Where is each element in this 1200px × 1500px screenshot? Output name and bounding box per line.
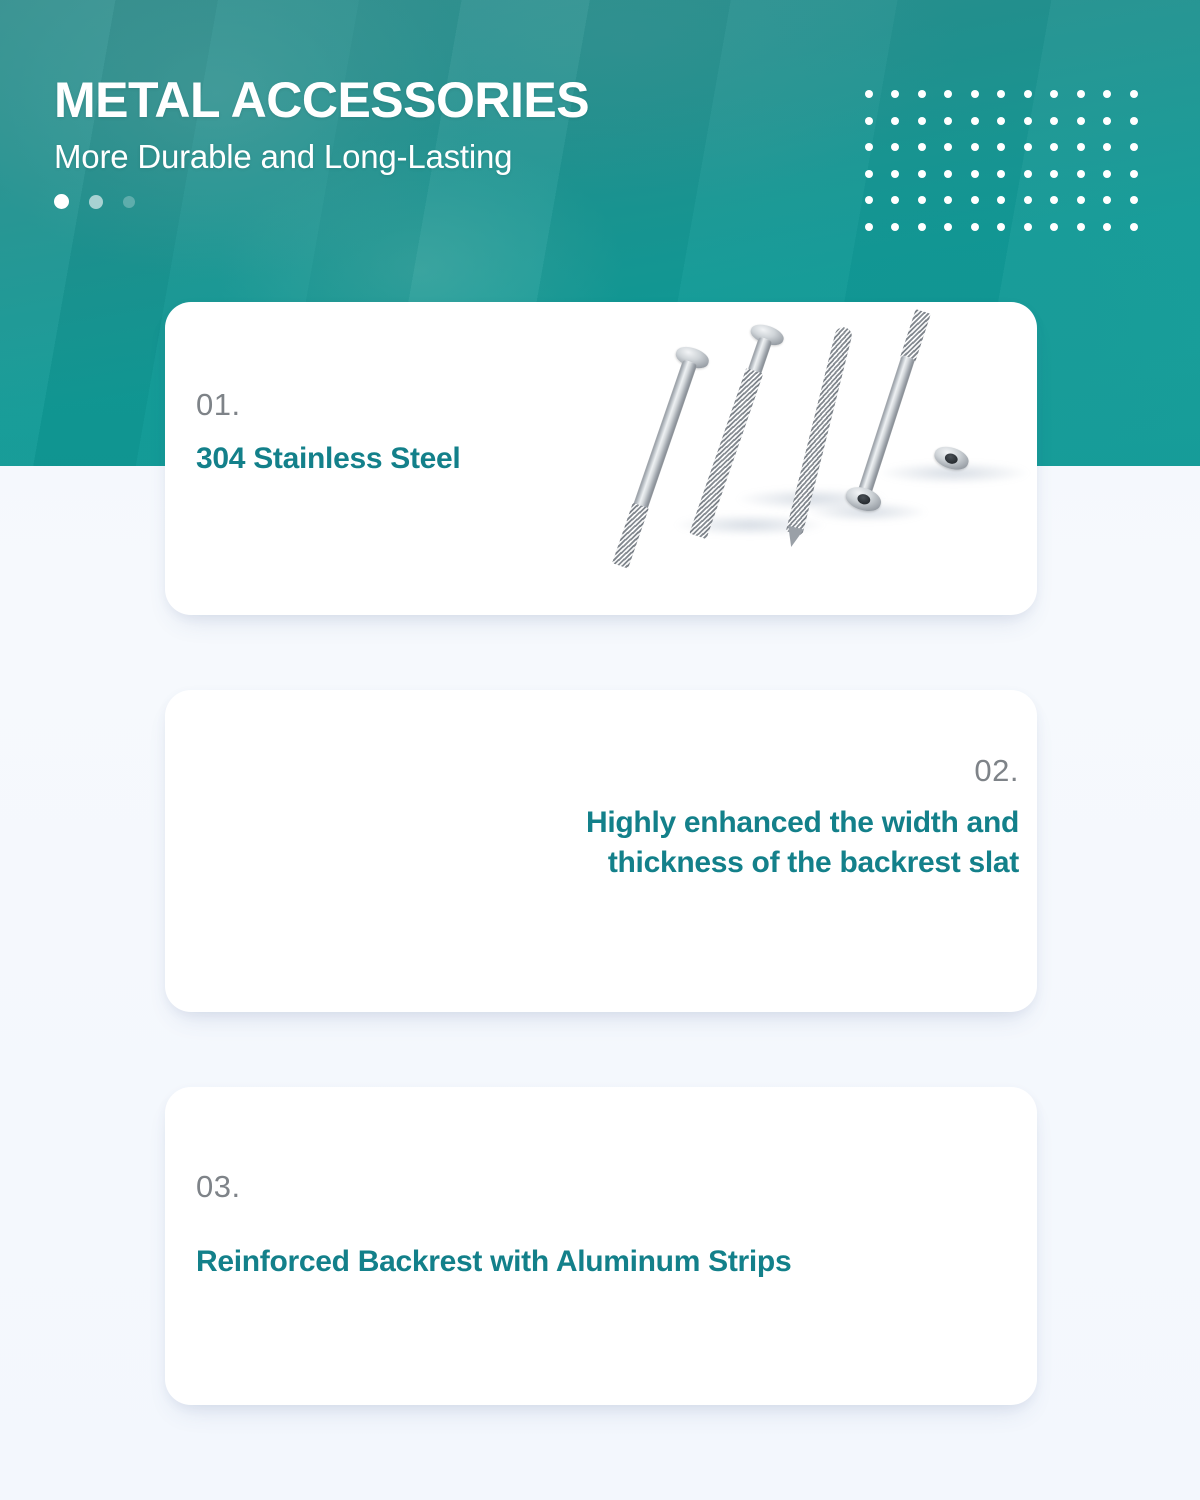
dot-grid-cell bbox=[935, 134, 962, 161]
dot-grid-dot bbox=[997, 196, 1005, 204]
progress-dot-3[interactable] bbox=[123, 196, 135, 208]
dot-grid-dot bbox=[971, 90, 979, 98]
dot-grid-dot bbox=[1077, 170, 1085, 178]
dot-grid-dot bbox=[997, 143, 1005, 151]
feature-card-1: 01. 304 Stainless Steel bbox=[165, 302, 1037, 615]
dot-grid-dot bbox=[1103, 90, 1111, 98]
dot-grid-cell bbox=[1068, 161, 1095, 188]
dot-grid-dot bbox=[891, 196, 899, 204]
dot-grid-dot bbox=[1077, 90, 1085, 98]
dot-grid-dot bbox=[918, 170, 926, 178]
dot-grid-cell bbox=[1015, 187, 1042, 214]
card-1-text: 01. 304 Stainless Steel bbox=[196, 389, 460, 479]
dot-grid-cell bbox=[988, 214, 1015, 241]
dot-grid-cell bbox=[988, 134, 1015, 161]
dot-grid-row bbox=[856, 134, 1148, 161]
card-2-headline: Highly enhanced the width and thickness … bbox=[579, 803, 1019, 882]
dot-grid-cell bbox=[856, 187, 883, 214]
dot-grid-dot bbox=[971, 223, 979, 231]
dot-grid-dot bbox=[944, 90, 952, 98]
dot-grid-cell bbox=[1068, 134, 1095, 161]
card-2-number: 02. bbox=[579, 755, 1019, 786]
dot-grid-dot bbox=[865, 117, 873, 125]
screw-thread bbox=[612, 503, 649, 569]
dot-grid-dot bbox=[1130, 90, 1138, 98]
dot-grid-dot bbox=[918, 196, 926, 204]
dot-grid-cell bbox=[882, 161, 909, 188]
dot-grid-dot bbox=[891, 90, 899, 98]
dot-grid-cell bbox=[882, 81, 909, 108]
dot-grid-cell bbox=[1015, 81, 1042, 108]
dot-grid-dot bbox=[944, 117, 952, 125]
dot-grid-dot bbox=[997, 117, 1005, 125]
stainless-steel-screws-image bbox=[617, 302, 1037, 615]
dot-grid-cell bbox=[1094, 214, 1121, 241]
dot-grid-cell bbox=[1041, 108, 1068, 135]
dot-grid-dot bbox=[944, 143, 952, 151]
dot-grid-cell bbox=[962, 214, 989, 241]
backrest-slat bbox=[165, 690, 191, 942]
feature-card-3: 03. Reinforced Backrest with Aluminum St… bbox=[165, 1087, 1037, 1405]
dot-grid-dot bbox=[1077, 117, 1085, 125]
dot-grid-dot bbox=[1103, 223, 1111, 231]
dot-grid-cell bbox=[935, 161, 962, 188]
card-3-text: 03. Reinforced Backrest with Aluminum St… bbox=[196, 1171, 791, 1282]
dot-grid-dot bbox=[1103, 143, 1111, 151]
dot-grid-dot bbox=[1103, 170, 1111, 178]
dot-grid-dot bbox=[1050, 170, 1058, 178]
dot-grid-cell bbox=[856, 161, 883, 188]
card-1-number: 01. bbox=[196, 389, 460, 420]
dot-grid-row bbox=[856, 108, 1148, 135]
backrest-slat bbox=[166, 1087, 1036, 1117]
card-1-headline: 304 Stainless Steel bbox=[196, 439, 460, 479]
dot-grid-cell bbox=[988, 108, 1015, 135]
dot-grid-cell bbox=[988, 187, 1015, 214]
dot-grid-cell bbox=[909, 108, 936, 135]
dot-grid-cell bbox=[1068, 108, 1095, 135]
dot-grid-dot bbox=[944, 196, 952, 204]
dot-grid-dot bbox=[1130, 170, 1138, 178]
dot-grid-dot bbox=[1077, 223, 1085, 231]
progress-dot-1[interactable] bbox=[54, 194, 69, 209]
backrest-slat bbox=[165, 1087, 1037, 1098]
dot-grid-dot bbox=[1077, 196, 1085, 204]
dot-grid-dot bbox=[891, 170, 899, 178]
dot-grid-dot bbox=[1130, 196, 1138, 204]
backrest-slat bbox=[166, 1087, 1037, 1110]
dot-grid-cell bbox=[935, 214, 962, 241]
dot-grid-cell bbox=[882, 134, 909, 161]
dot-grid-cell bbox=[1015, 161, 1042, 188]
dot-grid-dot bbox=[865, 223, 873, 231]
dot-grid-dot bbox=[1024, 117, 1032, 125]
dot-grid-cell bbox=[1121, 108, 1148, 135]
page-title: METAL ACCESSORIES bbox=[54, 74, 589, 127]
dot-grid-cell bbox=[935, 81, 962, 108]
page-subtitle: More Durable and Long-Lasting bbox=[54, 138, 589, 176]
dot-grid-dot bbox=[997, 90, 1005, 98]
dot-grid-row bbox=[856, 81, 1148, 108]
dot-grid-row bbox=[856, 187, 1148, 214]
dot-grid-dot bbox=[997, 170, 1005, 178]
dot-grid-dot bbox=[865, 90, 873, 98]
dot-grid-dot bbox=[1050, 117, 1058, 125]
card-3-number: 03. bbox=[196, 1171, 791, 1202]
dot-grid-dot bbox=[1130, 117, 1138, 125]
dot-grid-dot bbox=[891, 143, 899, 151]
dot-grid-cell bbox=[856, 214, 883, 241]
dot-grid-dot bbox=[971, 170, 979, 178]
dot-grid-cell bbox=[1015, 214, 1042, 241]
dot-grid-cell bbox=[909, 161, 936, 188]
dot-grid-cell bbox=[962, 81, 989, 108]
dot-grid-dot bbox=[918, 143, 926, 151]
backrest-slat bbox=[166, 1087, 1037, 1110]
dot-grid-dot bbox=[865, 170, 873, 178]
dot-grid-dot bbox=[918, 90, 926, 98]
dot-grid-dot bbox=[1103, 196, 1111, 204]
dot-grid-dot bbox=[891, 117, 899, 125]
dot-grid-cell bbox=[1041, 187, 1068, 214]
dot-grid-row bbox=[856, 161, 1148, 188]
dot-grid-cell bbox=[935, 108, 962, 135]
dot-grid-cell bbox=[1094, 161, 1121, 188]
dot-grid-cell bbox=[882, 214, 909, 241]
dot-grid-cell bbox=[962, 108, 989, 135]
dot-grid-cell bbox=[962, 161, 989, 188]
dot-grid-dot bbox=[971, 196, 979, 204]
dot-grid-dot bbox=[997, 223, 1005, 231]
screw-shank bbox=[631, 359, 697, 515]
dot-grid-cell bbox=[1068, 214, 1095, 241]
dot-grid-cell bbox=[856, 134, 883, 161]
dot-grid-decoration bbox=[856, 81, 1148, 240]
progress-dots[interactable] bbox=[54, 194, 589, 209]
dot-grid-cell bbox=[909, 81, 936, 108]
dot-grid-cell bbox=[1094, 108, 1121, 135]
backrest-slat bbox=[166, 1087, 1035, 1121]
dot-grid-cell bbox=[1121, 134, 1148, 161]
progress-dot-2[interactable] bbox=[89, 195, 103, 209]
dot-grid-row bbox=[856, 214, 1148, 241]
dot-grid-dot bbox=[1050, 143, 1058, 151]
dot-grid-dot bbox=[1050, 223, 1058, 231]
dot-grid-cell bbox=[909, 187, 936, 214]
dot-grid-dot bbox=[971, 143, 979, 151]
dot-grid-dot bbox=[1024, 196, 1032, 204]
dot-grid-dot bbox=[1103, 117, 1111, 125]
dot-grid-dot bbox=[944, 170, 952, 178]
dot-grid-dot bbox=[865, 143, 873, 151]
dot-grid-dot bbox=[971, 117, 979, 125]
card-2-text: 02. Highly enhanced the width and thickn… bbox=[579, 755, 1019, 882]
dot-grid-cell bbox=[988, 81, 1015, 108]
dot-grid-cell bbox=[1094, 134, 1121, 161]
screw-tip bbox=[783, 526, 803, 549]
backrest-slat bbox=[165, 1087, 1037, 1098]
screw-1 bbox=[603, 342, 712, 571]
dot-grid-cell bbox=[1015, 134, 1042, 161]
dot-grid-dot bbox=[918, 117, 926, 125]
dot-grid-cell bbox=[962, 134, 989, 161]
infographic-page: METAL ACCESSORIES More Durable and Long-… bbox=[0, 0, 1200, 1500]
dot-grid-cell bbox=[856, 81, 883, 108]
dot-grid-dot bbox=[1024, 170, 1032, 178]
dot-grid-dot bbox=[1077, 143, 1085, 151]
dot-grid-cell bbox=[962, 187, 989, 214]
dot-grid-cell bbox=[1121, 161, 1148, 188]
dot-grid-dot bbox=[1130, 143, 1138, 151]
dot-grid-cell bbox=[1041, 161, 1068, 188]
dot-grid-dot bbox=[918, 223, 926, 231]
dot-grid-dot bbox=[944, 223, 952, 231]
dot-grid-dot bbox=[1050, 90, 1058, 98]
dot-grid-cell bbox=[1121, 81, 1148, 108]
dot-grid-cell bbox=[1041, 81, 1068, 108]
dot-grid-dot bbox=[1130, 223, 1138, 231]
feature-card-2: 02. Highly enhanced the width and thickn… bbox=[165, 690, 1037, 1012]
dot-grid-cell bbox=[1041, 134, 1068, 161]
backrest-slat bbox=[165, 942, 200, 1012]
dot-grid-cell bbox=[1041, 214, 1068, 241]
dot-grid-cell bbox=[1094, 187, 1121, 214]
dot-grid-dot bbox=[891, 223, 899, 231]
dot-grid-dot bbox=[1050, 196, 1058, 204]
dot-grid-cell bbox=[909, 214, 936, 241]
dot-grid-cell bbox=[1094, 81, 1121, 108]
dot-grid-cell bbox=[988, 161, 1015, 188]
dot-grid-cell bbox=[856, 108, 883, 135]
dot-grid-dot bbox=[1024, 90, 1032, 98]
dot-grid-dot bbox=[865, 196, 873, 204]
dot-grid-cell bbox=[1015, 108, 1042, 135]
dot-grid-cell bbox=[1068, 187, 1095, 214]
bench-backrest-slats-image bbox=[165, 690, 635, 1012]
dot-grid-cell bbox=[1121, 214, 1148, 241]
dot-grid-cell bbox=[1068, 81, 1095, 108]
dot-grid-cell bbox=[935, 187, 962, 214]
dot-grid-cell bbox=[909, 134, 936, 161]
dot-grid-cell bbox=[1121, 187, 1148, 214]
banner-text-block: METAL ACCESSORIES More Durable and Long-… bbox=[54, 74, 589, 209]
dot-grid-dot bbox=[1024, 223, 1032, 231]
dot-grid-cell bbox=[882, 187, 909, 214]
dot-grid-dot bbox=[1024, 143, 1032, 151]
card-3-headline: Reinforced Backrest with Aluminum Strips bbox=[196, 1242, 791, 1282]
dot-grid-cell bbox=[882, 108, 909, 135]
